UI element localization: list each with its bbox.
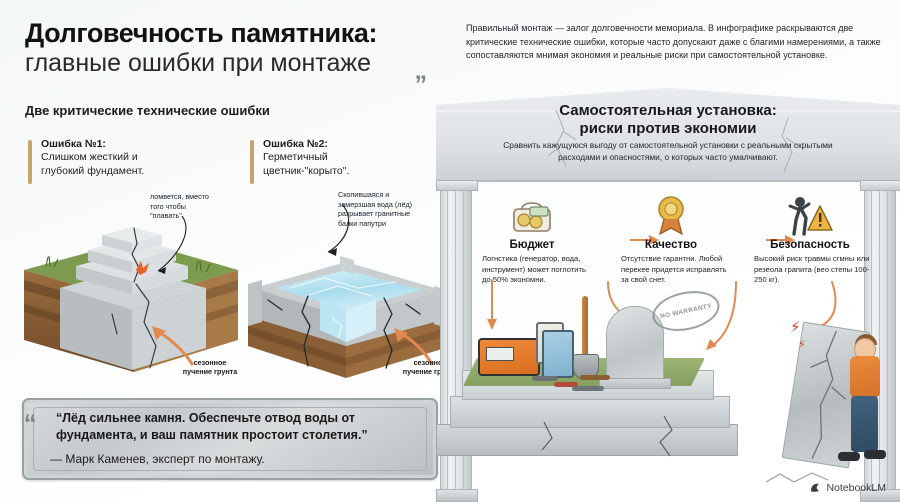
quality-title: Качество bbox=[615, 239, 727, 251]
award-medal-icon bbox=[615, 192, 727, 238]
generator-icon bbox=[478, 338, 540, 376]
error-2-text: Герметичный цветник-"корыто". bbox=[263, 151, 349, 179]
injury-warning-icon bbox=[748, 192, 872, 238]
accent-bar bbox=[28, 140, 32, 184]
panel-subtitle: Сравнить кажущуюся выгоду от самостоятел… bbox=[498, 140, 838, 163]
worker-shoe bbox=[864, 450, 886, 459]
tool-spanner bbox=[572, 386, 604, 391]
error-1-text: Слишком жесткий и глубокий фундамент. bbox=[41, 151, 144, 179]
risk-card-budget[interactable]: Бюджет Логнстика (генератор, вода, инстр… bbox=[476, 192, 588, 286]
risk-card-safety[interactable]: Безопасность Высокий риск травмы сгмны и… bbox=[748, 192, 872, 286]
notebooklm-logo-icon bbox=[809, 481, 822, 494]
panel-title-line1: Самостоятельная установка: bbox=[486, 102, 850, 120]
generator-panel bbox=[486, 347, 514, 361]
quality-body: Отсутствие гарантни. Любой перекее приде… bbox=[615, 254, 727, 286]
water-canister-blue bbox=[542, 330, 574, 378]
worker-legs bbox=[851, 396, 878, 452]
worker-carrying-slab: ⚡ ⚡ bbox=[792, 322, 882, 474]
page-subtitle: главные ошибки при монтаже bbox=[25, 49, 445, 78]
diy-install-scene: NO WARRANTY ⚡ ⚡ bbox=[436, 296, 900, 502]
tool-hammer bbox=[580, 375, 610, 380]
base-cracks bbox=[436, 416, 736, 476]
shovel-handle bbox=[582, 296, 588, 360]
panel-title: Самостоятельная установка: риски против … bbox=[486, 102, 850, 138]
error-1-title: Ошибка №1: bbox=[41, 138, 106, 150]
worker-torso bbox=[850, 356, 880, 398]
left-column: Долговечность памятника: главные ошибки … bbox=[0, 0, 455, 502]
infographic-root: Долговечность памятника: главные ошибки … bbox=[0, 0, 900, 502]
quote-open-mark: “ bbox=[24, 412, 37, 437]
quote-text: “Лёд сильнее камня. Обеспечьте отвод вод… bbox=[56, 410, 408, 445]
right-panel: Самостоятельная установка: риски против … bbox=[436, 88, 900, 502]
worker-shoe bbox=[838, 452, 860, 461]
brand-footer: NotebookLM bbox=[809, 481, 886, 494]
impact-spark-icon: ⚡ bbox=[790, 318, 801, 336]
callout-ice-splits-granite: Скопившаяся и замерзшая вода (лёд) разры… bbox=[338, 190, 443, 229]
hand-tools bbox=[532, 374, 628, 392]
quote-author: — Марк Каменев, эксперт по монтажу. bbox=[50, 452, 410, 466]
page-title: Долговечность памятника: bbox=[25, 18, 445, 48]
risk-card-quality[interactable]: Качество Отсутствие гарантни. Любой пере… bbox=[615, 192, 727, 286]
safety-title: Безопасность bbox=[748, 239, 872, 251]
brand-name: NotebookLM bbox=[826, 482, 886, 494]
impact-spark-icon: ⚡ bbox=[798, 338, 806, 351]
quote-close-mark: ” bbox=[415, 73, 428, 98]
tool-wrench bbox=[532, 376, 558, 381]
section-heading: Две критические технические ошибки bbox=[25, 103, 270, 118]
safety-body: Высокий риск травмы сгмны или резеола гр… bbox=[748, 254, 872, 286]
ground-heave-label-1: сезонное пучение грунта bbox=[178, 358, 242, 377]
accent-bar bbox=[250, 140, 254, 184]
risk-cards: Бюджет Логнстика (генератор, вода, инстр… bbox=[476, 192, 866, 302]
error-2-title: Ошибка №2: bbox=[263, 138, 328, 150]
intro-paragraph: Правильный монтаж — залог долговечности … bbox=[466, 22, 890, 63]
panel-title-line2: риски против экономии bbox=[486, 120, 850, 138]
budget-title: Бюджет bbox=[476, 239, 588, 251]
callout-break-float: ломвется, вместо того чтобы "плавать" bbox=[150, 192, 245, 221]
money-bag-icon bbox=[476, 192, 588, 238]
